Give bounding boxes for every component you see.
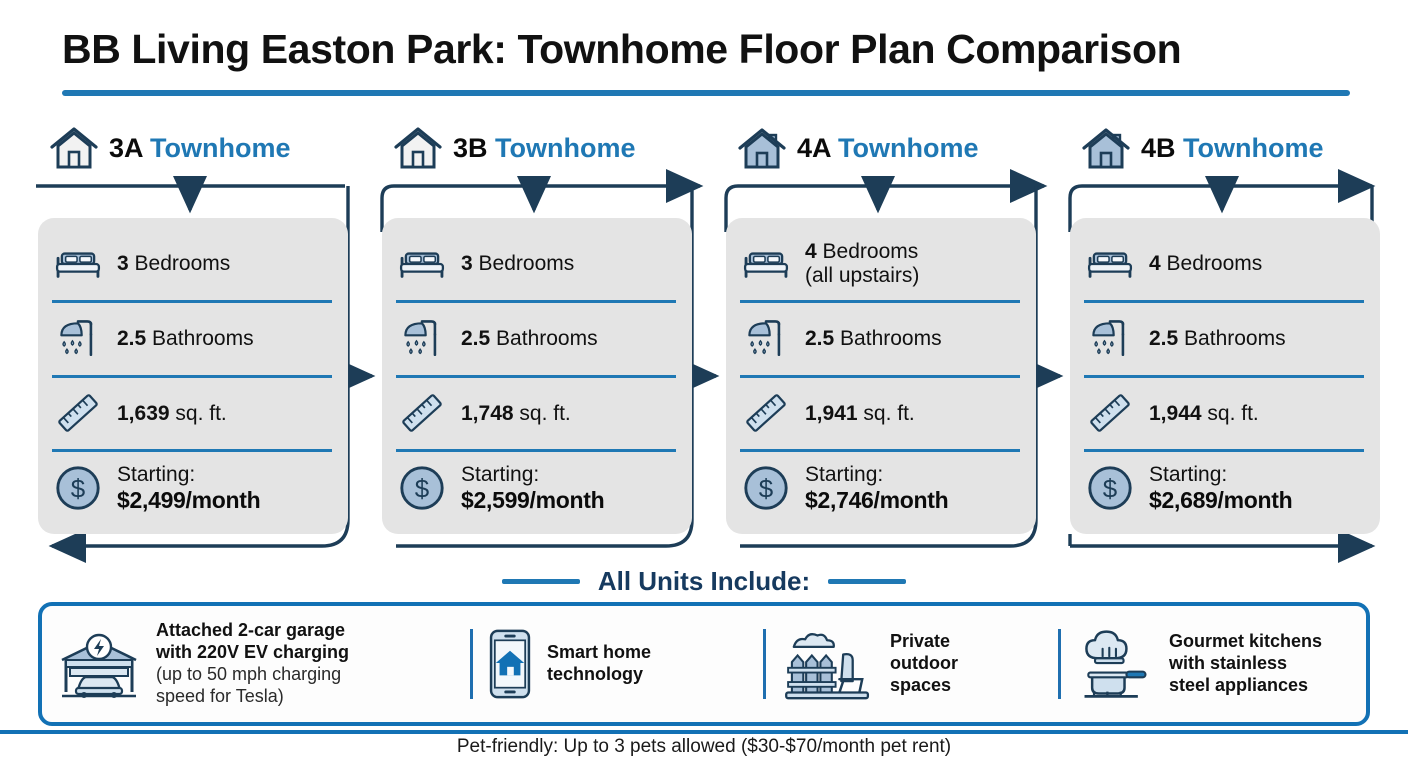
bathrooms-value: 2.5 xyxy=(805,327,834,350)
feature-outdoor-line1: Private xyxy=(890,631,950,651)
bedrooms-value: 3 xyxy=(461,252,473,275)
garage-ev-charging-icon xyxy=(56,630,142,698)
all-units-include-heading: All Units Include: xyxy=(0,566,1408,597)
feature-outdoor-line3: spaces xyxy=(890,675,951,695)
spec-row-price: $ Starting: $2,689/month xyxy=(1084,449,1364,524)
column-title-4b: 4B Townhome xyxy=(1141,133,1324,164)
column-header-3a: 3A Townhome xyxy=(38,118,348,178)
bedrooms-value: 4 xyxy=(1149,252,1161,275)
price-value: $2,689/month xyxy=(1149,487,1292,514)
price-label: Starting: xyxy=(117,463,260,487)
spec-card-4b[interactable]: 4 Bedrooms xyxy=(1070,218,1380,534)
sqft-value: 1,639 xyxy=(117,402,170,425)
spec-row-sqft: 1,748 sq. ft. xyxy=(396,375,676,450)
feature-kitchen[interactable]: Gourmet kitchens with stainless steel ap… xyxy=(1061,606,1361,722)
column-code-3a: 3A xyxy=(109,133,143,163)
column-title-4a: 4A Townhome xyxy=(797,133,979,164)
all-units-include-box: Attached 2-car garage with 220V EV charg… xyxy=(38,602,1370,726)
spec-card-4a[interactable]: 4 Bedrooms (all upstairs) xyxy=(726,218,1036,534)
sqft-label: sq. ft. xyxy=(1207,402,1258,425)
all-units-include-title: All Units Include: xyxy=(598,566,810,597)
spec-row-sqft: 1,941 sq. ft. xyxy=(740,375,1020,450)
shower-icon xyxy=(740,313,792,365)
spec-row-price: $ Starting: $2,499/month xyxy=(52,449,332,524)
bed-icon xyxy=(52,238,104,290)
bedrooms-label: Bedrooms xyxy=(823,240,919,263)
svg-text:$: $ xyxy=(71,474,86,504)
spec-card-3b[interactable]: 3 Bedrooms xyxy=(382,218,692,534)
column-title-3a: 3A Townhome xyxy=(109,133,291,164)
price-value: $2,746/month xyxy=(805,487,948,514)
column-3b[interactable]: 3B Townhome xyxy=(382,118,692,178)
column-header-3b: 3B Townhome xyxy=(382,118,692,178)
bedrooms-text: 4 Bedrooms xyxy=(1149,252,1262,276)
spec-row-bedrooms: 3 Bedrooms xyxy=(396,228,676,300)
svg-text:$: $ xyxy=(1103,474,1118,504)
spec-row-price: $ Starting: $2,599/month xyxy=(396,449,676,524)
price-text: Starting: $2,746/month xyxy=(805,463,948,514)
dollar-coin-icon: $ xyxy=(52,462,104,514)
feature-garage-line3: (up to 50 mph charging xyxy=(156,664,341,684)
price-value: $2,499/month xyxy=(117,487,260,514)
bedrooms-label: Bedrooms xyxy=(1167,252,1263,275)
spec-row-bathrooms: 2.5 Bathrooms xyxy=(52,300,332,375)
page-title: BB Living Easton Park: Townhome Floor Pl… xyxy=(62,26,1181,73)
footer-rule xyxy=(0,730,1408,734)
fence-patio-icon xyxy=(780,626,876,702)
sqft-value: 1,944 xyxy=(1149,402,1202,425)
spec-row-bedrooms: 4 Bedrooms (all upstairs) xyxy=(740,228,1020,300)
bedrooms-text: 4 Bedrooms (all upstairs) xyxy=(805,240,919,287)
bathrooms-value: 2.5 xyxy=(461,327,490,350)
heading-dash-left xyxy=(502,579,580,584)
spec-row-bathrooms: 2.5 Bathrooms xyxy=(1084,300,1364,375)
bedrooms-label: Bedrooms xyxy=(479,252,575,275)
ruler-icon xyxy=(396,387,448,439)
feature-garage[interactable]: Attached 2-car garage with 220V EV charg… xyxy=(42,606,470,722)
feature-smart-home-line2: technology xyxy=(547,664,643,684)
column-4b[interactable]: 4B Townhome xyxy=(1070,118,1380,178)
bathrooms-text: 2.5 Bathrooms xyxy=(1149,327,1286,351)
ruler-icon xyxy=(1084,387,1136,439)
feature-garage-line2: with 220V EV charging xyxy=(156,642,349,662)
sqft-text: 1,748 sq. ft. xyxy=(461,402,571,426)
sqft-text: 1,944 sq. ft. xyxy=(1149,402,1259,426)
column-word-3a: Townhome xyxy=(150,133,290,163)
heading-dash-right xyxy=(828,579,906,584)
bathrooms-label: Bathrooms xyxy=(840,327,942,350)
house-icon xyxy=(48,125,100,171)
bedrooms-text: 3 Bedrooms xyxy=(461,252,574,276)
column-code-4b: 4B xyxy=(1141,133,1176,163)
feature-outdoor-space-text: Private outdoor spaces xyxy=(890,631,958,697)
infographic-root: BB Living Easton Park: Townhome Floor Pl… xyxy=(0,0,1408,768)
bedrooms-label: Bedrooms xyxy=(135,252,231,275)
bed-icon xyxy=(740,238,792,290)
house-icon xyxy=(1080,125,1132,171)
bathrooms-text: 2.5 Bathrooms xyxy=(117,327,254,351)
svg-text:$: $ xyxy=(759,474,774,504)
price-text: Starting: $2,689/month xyxy=(1149,463,1292,514)
sqft-label: sq. ft. xyxy=(863,402,914,425)
spec-row-bathrooms: 2.5 Bathrooms xyxy=(396,300,676,375)
feature-garage-text: Attached 2-car garage with 220V EV charg… xyxy=(156,620,349,708)
feature-kitchen-line2: with stainless xyxy=(1169,653,1287,673)
feature-outdoor-space[interactable]: Private outdoor spaces xyxy=(766,606,1058,722)
dollar-coin-icon: $ xyxy=(1084,462,1136,514)
feature-smart-home[interactable]: Smart home technology xyxy=(473,606,763,722)
bathrooms-label: Bathrooms xyxy=(496,327,598,350)
sqft-label: sq. ft. xyxy=(519,402,570,425)
column-4a[interactable]: 4A Townhome xyxy=(726,118,1036,178)
bedrooms-text: 3 Bedrooms xyxy=(117,252,230,276)
bathrooms-text: 2.5 Bathrooms xyxy=(805,327,942,351)
feature-outdoor-line2: outdoor xyxy=(890,653,958,673)
sqft-text: 1,639 sq. ft. xyxy=(117,402,227,426)
column-header-4a: 4A Townhome xyxy=(726,118,1036,178)
spec-row-bathrooms: 2.5 Bathrooms xyxy=(740,300,1020,375)
sqft-value: 1,941 xyxy=(805,402,858,425)
house-icon xyxy=(736,125,788,171)
feature-garage-line1: Attached 2-car garage xyxy=(156,620,345,640)
bathrooms-value: 2.5 xyxy=(1149,327,1178,350)
spec-row-sqft: 1,944 sq. ft. xyxy=(1084,375,1364,450)
feature-garage-line4: speed for Tesla) xyxy=(156,686,284,706)
spec-row-bedrooms: 4 Bedrooms xyxy=(1084,228,1364,300)
spec-row-bedrooms: 3 Bedrooms xyxy=(52,228,332,300)
bathrooms-value: 2.5 xyxy=(117,327,146,350)
feature-kitchen-line1: Gourmet kitchens xyxy=(1169,631,1322,651)
column-title-3b: 3B Townhome xyxy=(453,133,636,164)
bedrooms-value: 4 xyxy=(805,240,817,263)
spec-row-sqft: 1,639 sq. ft. xyxy=(52,375,332,450)
column-code-4a: 4A xyxy=(797,133,831,163)
spec-card-3a[interactable]: 3 Bedrooms xyxy=(38,218,348,534)
title-underline xyxy=(62,90,1350,96)
sqft-text: 1,941 sq. ft. xyxy=(805,402,915,426)
bed-icon xyxy=(396,238,448,290)
column-word-4b: Townhome xyxy=(1183,133,1323,163)
sqft-label: sq. ft. xyxy=(175,402,226,425)
column-word-3b: Townhome xyxy=(495,133,635,163)
price-label: Starting: xyxy=(805,463,948,487)
bathrooms-label: Bathrooms xyxy=(152,327,254,350)
bedrooms-value: 3 xyxy=(117,252,129,275)
dollar-coin-icon: $ xyxy=(740,462,792,514)
feature-kitchen-text: Gourmet kitchens with stainless steel ap… xyxy=(1169,631,1322,697)
price-value: $2,599/month xyxy=(461,487,604,514)
bed-icon xyxy=(1084,238,1136,290)
price-label: Starting: xyxy=(461,463,604,487)
sqft-value: 1,748 xyxy=(461,402,514,425)
price-label: Starting: xyxy=(1149,463,1292,487)
pet-policy-note: Pet-friendly: Up to 3 pets allowed ($30-… xyxy=(0,736,1408,758)
price-text: Starting: $2,499/month xyxy=(117,463,260,514)
spec-row-price: $ Starting: $2,746/month xyxy=(740,449,1020,524)
feature-smart-home-line1: Smart home xyxy=(547,642,651,662)
column-header-4b: 4B Townhome xyxy=(1070,118,1380,178)
feature-kitchen-line3: steel appliances xyxy=(1169,675,1308,695)
feature-smart-home-text: Smart home technology xyxy=(547,642,651,686)
svg-text:$: $ xyxy=(415,474,430,504)
bathrooms-text: 2.5 Bathrooms xyxy=(461,327,598,351)
shower-icon xyxy=(396,313,448,365)
ruler-icon xyxy=(740,387,792,439)
price-text: Starting: $2,599/month xyxy=(461,463,604,514)
bedrooms-note: (all upstairs) xyxy=(805,264,919,288)
column-code-3b: 3B xyxy=(453,133,488,163)
bathrooms-label: Bathrooms xyxy=(1184,327,1286,350)
house-icon xyxy=(392,125,444,171)
shower-icon xyxy=(52,313,104,365)
column-3a[interactable]: 3A Townhome xyxy=(38,118,348,178)
column-word-4a: Townhome xyxy=(838,133,978,163)
dollar-coin-icon: $ xyxy=(396,462,448,514)
ruler-icon xyxy=(52,387,104,439)
shower-icon xyxy=(1084,313,1136,365)
chef-hat-pot-icon xyxy=(1075,624,1155,704)
smart-phone-home-icon xyxy=(487,628,533,700)
